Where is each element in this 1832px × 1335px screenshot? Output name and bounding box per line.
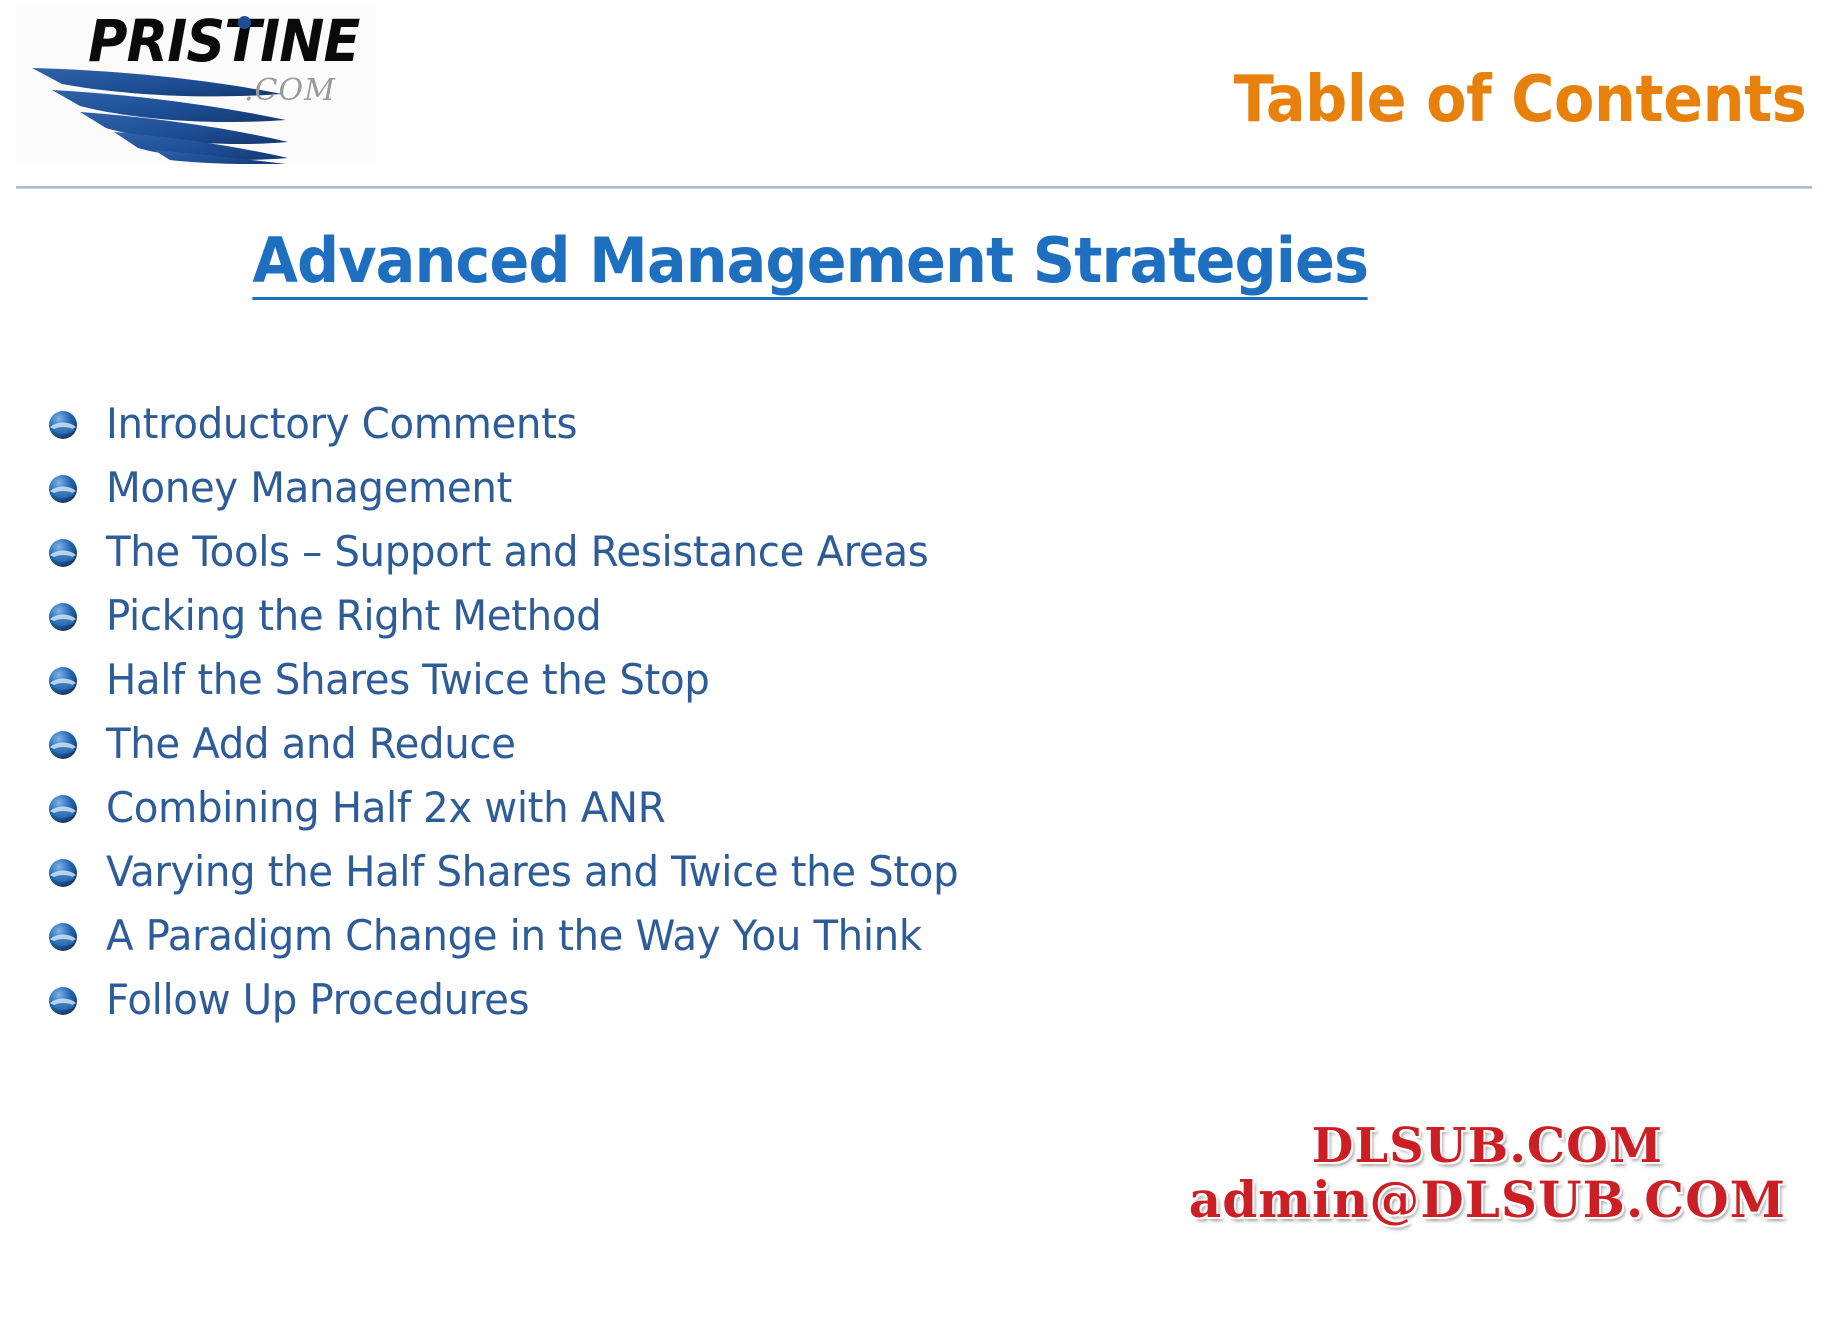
globe-bullet-icon bbox=[46, 408, 80, 442]
page-title: Advanced Management Strategies bbox=[252, 228, 1368, 300]
main-title-container: Advanced Management Strategies bbox=[0, 228, 1620, 300]
globe-bullet-icon bbox=[46, 600, 80, 634]
table-of-contents-list: Introductory Comments Money Management T… bbox=[46, 392, 1546, 1032]
list-item[interactable]: Introductory Comments bbox=[46, 392, 1546, 456]
list-item[interactable]: Follow Up Procedures bbox=[46, 968, 1546, 1032]
list-item[interactable]: Combining Half 2x with ANR bbox=[46, 776, 1546, 840]
list-item-label: A Paradigm Change in the Way You Think bbox=[106, 915, 922, 957]
list-item-label: Introductory Comments bbox=[106, 403, 577, 445]
list-item[interactable]: The Tools – Support and Resistance Areas bbox=[46, 520, 1546, 584]
slide-header: PRISTINE .COM Table of Contents bbox=[0, 0, 1832, 192]
globe-bullet-icon bbox=[46, 984, 80, 1018]
list-item-label: The Add and Reduce bbox=[106, 723, 516, 765]
list-item-label: Money Management bbox=[106, 467, 512, 509]
watermark: DLSUB.COM admin@DLSUB.COM bbox=[1189, 1121, 1786, 1227]
list-item[interactable]: Half the Shares Twice the Stop bbox=[46, 648, 1546, 712]
watermark-site: DLSUB.COM bbox=[1189, 1121, 1786, 1173]
header-divider bbox=[16, 186, 1812, 189]
pristine-logo: PRISTINE .COM bbox=[16, 4, 376, 164]
globe-bullet-icon bbox=[46, 536, 80, 570]
header-title: Table of Contents bbox=[1233, 68, 1806, 132]
list-item-label: Picking the Right Method bbox=[106, 595, 601, 637]
slide-canvas: PRISTINE .COM Table of Contents Advanced… bbox=[0, 0, 1832, 1335]
globe-bullet-icon bbox=[46, 472, 80, 506]
watermark-email: admin@DLSUB.COM bbox=[1189, 1173, 1786, 1227]
list-item-label: Half the Shares Twice the Stop bbox=[106, 659, 709, 701]
list-item[interactable]: Picking the Right Method bbox=[46, 584, 1546, 648]
list-item[interactable]: The Add and Reduce bbox=[46, 712, 1546, 776]
globe-bullet-icon bbox=[46, 664, 80, 698]
globe-bullet-icon bbox=[46, 728, 80, 762]
logo-dot-icon bbox=[238, 16, 251, 29]
logo-suffix: .COM bbox=[244, 76, 336, 106]
list-item-label: Follow Up Procedures bbox=[106, 979, 529, 1021]
list-item[interactable]: Varying the Half Shares and Twice the St… bbox=[46, 840, 1546, 904]
list-item[interactable]: A Paradigm Change in the Way You Think bbox=[46, 904, 1546, 968]
list-item-label: Combining Half 2x with ANR bbox=[106, 787, 665, 829]
list-item-label: The Tools – Support and Resistance Areas bbox=[106, 531, 928, 573]
globe-bullet-icon bbox=[46, 920, 80, 954]
logo-wordmark: PRISTINE bbox=[88, 12, 359, 70]
globe-bullet-icon bbox=[46, 856, 80, 890]
list-item[interactable]: Money Management bbox=[46, 456, 1546, 520]
list-item-label: Varying the Half Shares and Twice the St… bbox=[106, 851, 958, 893]
globe-bullet-icon bbox=[46, 792, 80, 826]
